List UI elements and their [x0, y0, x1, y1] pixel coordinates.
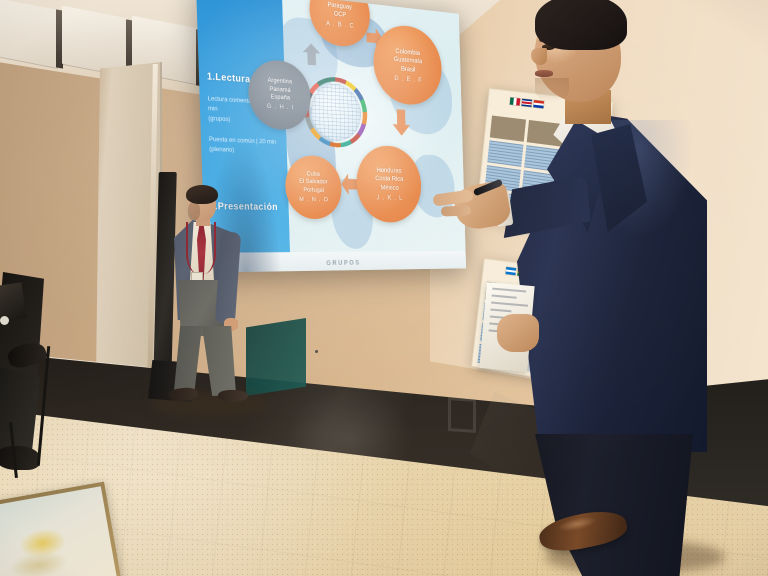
- seated-shoe: [0, 446, 40, 470]
- presenter-thumb: [441, 205, 471, 216]
- agenda-line-1-sub: (grupos): [208, 115, 230, 123]
- agenda-heading-1: 1.Lectura: [207, 71, 251, 85]
- framed-picture: [0, 482, 122, 576]
- attendee-seated: [0, 272, 58, 510]
- bubble-top-code: A . B . C: [326, 20, 354, 31]
- attendee-leg-left: [174, 326, 202, 394]
- wainscot-reflected-rectangle: [448, 397, 476, 433]
- bubble-bottom-code: J . K . L: [376, 193, 403, 202]
- bubble-right-code: D . E . F: [394, 74, 422, 85]
- bubble-left-code: G . H . I: [267, 103, 295, 113]
- presenter: [487, 0, 727, 576]
- presenter-hair: [535, 0, 627, 50]
- presenter-chin-shadow: [535, 78, 569, 102]
- attendee-legs: [172, 326, 244, 394]
- attendee-hair: [186, 185, 218, 204]
- seated-badge-icon: [0, 316, 9, 325]
- bubble-right-line-3: Brasil: [401, 64, 416, 74]
- attendee-shoe-right: [218, 389, 249, 403]
- bubble-right: Colombia Guatemala Brasil D . E . F: [372, 23, 443, 107]
- chair-leg: [37, 346, 50, 466]
- bubble-bottom-line-3: México: [380, 183, 398, 192]
- attendee-face-shadow: [188, 202, 200, 220]
- attendee-leg-right: [202, 326, 236, 396]
- photo-scene: 1.Lectura Lectura comentada | 20 min (gr…: [0, 0, 768, 576]
- presenter-mouth: [535, 70, 553, 77]
- attendee-shoe-left: [167, 386, 199, 403]
- presenter-holding-hand: [497, 314, 539, 352]
- presenter-trousers: [525, 434, 693, 576]
- bubble-bottom-left-code: M . N . O: [299, 196, 329, 204]
- bubble-left-line-3: España: [271, 93, 291, 102]
- bubble-bottom-left-line-3: Portugal: [303, 186, 324, 194]
- presenter-nose: [531, 48, 547, 65]
- bubble-top-line-3: OCP: [334, 11, 347, 20]
- attendee-walking: [160, 188, 264, 406]
